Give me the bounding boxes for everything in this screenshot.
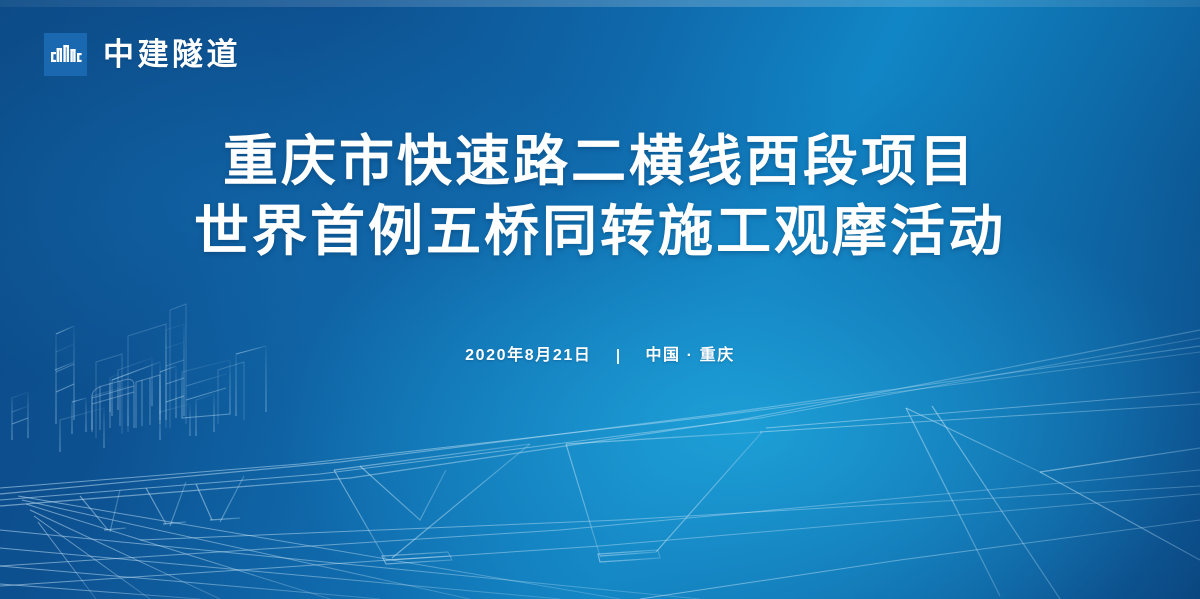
background-line-art bbox=[0, 0, 1200, 599]
event-date: 2020年8月21日 bbox=[465, 348, 591, 364]
wireframe-city-skyline-back bbox=[96, 304, 244, 438]
subtitle-separator bbox=[617, 349, 619, 364]
top-edge-sheen bbox=[0, 0, 1200, 7]
sweeping-guide-lines bbox=[0, 392, 1200, 599]
wireframe-bridge-perspective bbox=[0, 330, 1200, 599]
headline-line-1: 重庆市快速路二横线西段项目 bbox=[0, 126, 1200, 196]
cscec-logo-mark-icon bbox=[44, 33, 87, 76]
wireframe-twin-towers bbox=[92, 375, 160, 432]
event-location: 中国 · 重庆 bbox=[645, 348, 734, 364]
event-subtitle: 2020年8月21日 中国 · 重庆 bbox=[0, 348, 1200, 364]
brand-logo: 中建隧道 bbox=[44, 33, 241, 76]
event-banner: 中建隧道 重庆市快速路二横线西段项目 世界首例五桥同转施工观摩活动 2020年8… bbox=[0, 0, 1200, 599]
brand-wordmark: 中建隧道 bbox=[103, 39, 241, 70]
page-title: 重庆市快速路二横线西段项目 世界首例五桥同转施工观摩活动 bbox=[0, 126, 1200, 266]
headline-line-2: 世界首例五桥同转施工观摩活动 bbox=[0, 196, 1200, 266]
wireframe-road-lines bbox=[0, 496, 700, 599]
wireframe-city-skyline bbox=[12, 324, 266, 452]
